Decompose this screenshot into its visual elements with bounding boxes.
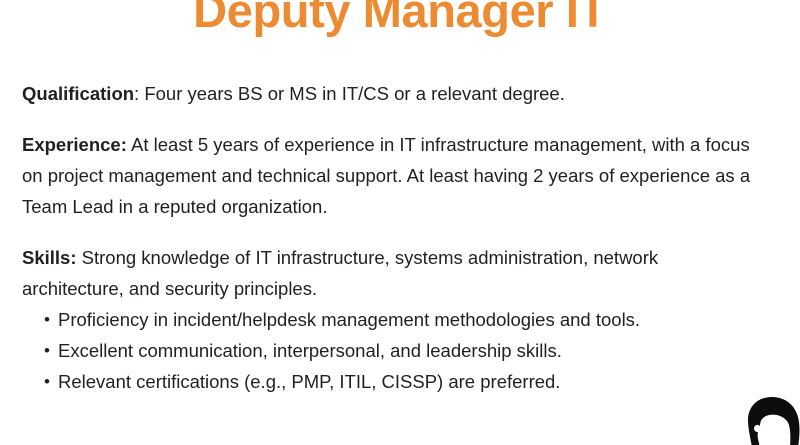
skills-bullet-list: • Proficiency in incident/helpdesk manag… (22, 304, 764, 397)
bullet-marker-icon: • (44, 335, 50, 366)
list-item-label: Relevant certifications (e.g., PMP, ITIL… (58, 371, 560, 392)
spacer (22, 109, 764, 129)
slide-canvas: Deputy Manager IT Qualification: Four ye… (0, 0, 800, 445)
qualification-text: : Four years BS or MS in IT/CS or a rele… (134, 83, 565, 104)
experience-label: Experience: (22, 134, 127, 155)
skills-paragraph: Skills: Strong knowledge of IT infrastru… (22, 242, 764, 304)
skills-text: Strong knowledge of IT infrastructure, s… (22, 247, 658, 299)
qualification-paragraph: Qualification: Four years BS or MS in IT… (22, 78, 764, 109)
bullet-marker-icon: • (44, 304, 50, 335)
person-head-silhouette-icon (742, 395, 800, 445)
list-item-label: Proficiency in incident/helpdesk managem… (58, 309, 640, 330)
page-title: Deputy Manager IT (0, 0, 800, 39)
skills-label: Skills: (22, 247, 77, 268)
experience-text: At least 5 years of experience in IT inf… (22, 134, 750, 217)
experience-paragraph: Experience: At least 5 years of experien… (22, 129, 764, 222)
list-item: • Proficiency in incident/helpdesk manag… (22, 304, 764, 335)
slide-body: Qualification: Four years BS or MS in IT… (22, 78, 764, 397)
list-item: • Excellent communication, interpersonal… (22, 335, 764, 366)
bullet-marker-icon: • (44, 366, 50, 397)
list-item-label: Excellent communication, interpersonal, … (58, 340, 562, 361)
list-item: • Relevant certifications (e.g., PMP, IT… (22, 366, 764, 397)
qualification-label: Qualification (22, 83, 134, 104)
spacer (22, 222, 764, 242)
